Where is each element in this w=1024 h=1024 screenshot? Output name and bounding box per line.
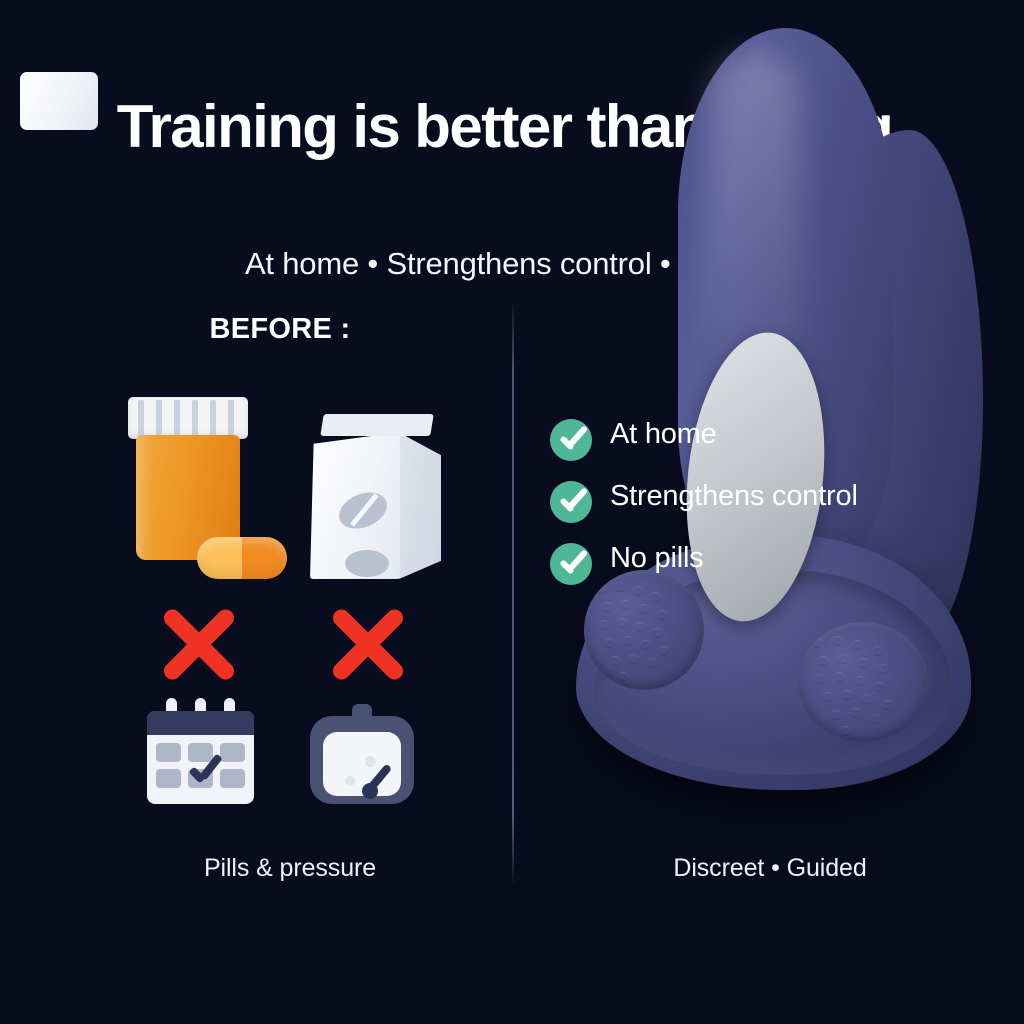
bottle-label [20,72,98,130]
bottle-cap [128,397,248,439]
check-icon [550,419,592,461]
calendar-icon [147,707,254,804]
device-highlight [708,52,800,382]
x-mark-icon [325,601,411,687]
bag-pill-graphic [345,550,389,577]
calendar-header-bar [147,711,254,735]
bag-fold [320,414,433,436]
pill-bottle-icon [128,397,248,560]
stopwatch-icon [310,712,414,804]
bag-front-panel [310,432,400,579]
x-mark-icon [156,601,242,687]
now-caption: Discreet • Guided [615,854,925,883]
check-icon [550,543,592,585]
capsule-icon [197,537,287,579]
pill-bag-icon [300,414,445,579]
stopwatch-face [323,732,401,796]
stopwatch-pivot [362,783,378,799]
check-icon [550,481,592,523]
list-item: At home [550,413,980,475]
stopwatch-body [310,716,414,804]
benefit-label: Strengthens control [610,480,858,513]
before-caption: Pills & pressure [140,854,440,883]
benefits-checklist: At home Strengthens control No pills [550,413,980,599]
device-textured-pad [798,622,928,742]
bag-pill-graphic [334,486,393,536]
benefit-label: At home [610,418,717,451]
promo-graphic: Training is better than timing. At home … [0,0,1024,1024]
list-item: No pills [550,537,980,599]
benefit-label: No pills [610,542,704,575]
calendar-check-icon [187,755,223,791]
bag-side-panel [399,428,441,579]
list-item: Strengthens control [550,475,980,537]
